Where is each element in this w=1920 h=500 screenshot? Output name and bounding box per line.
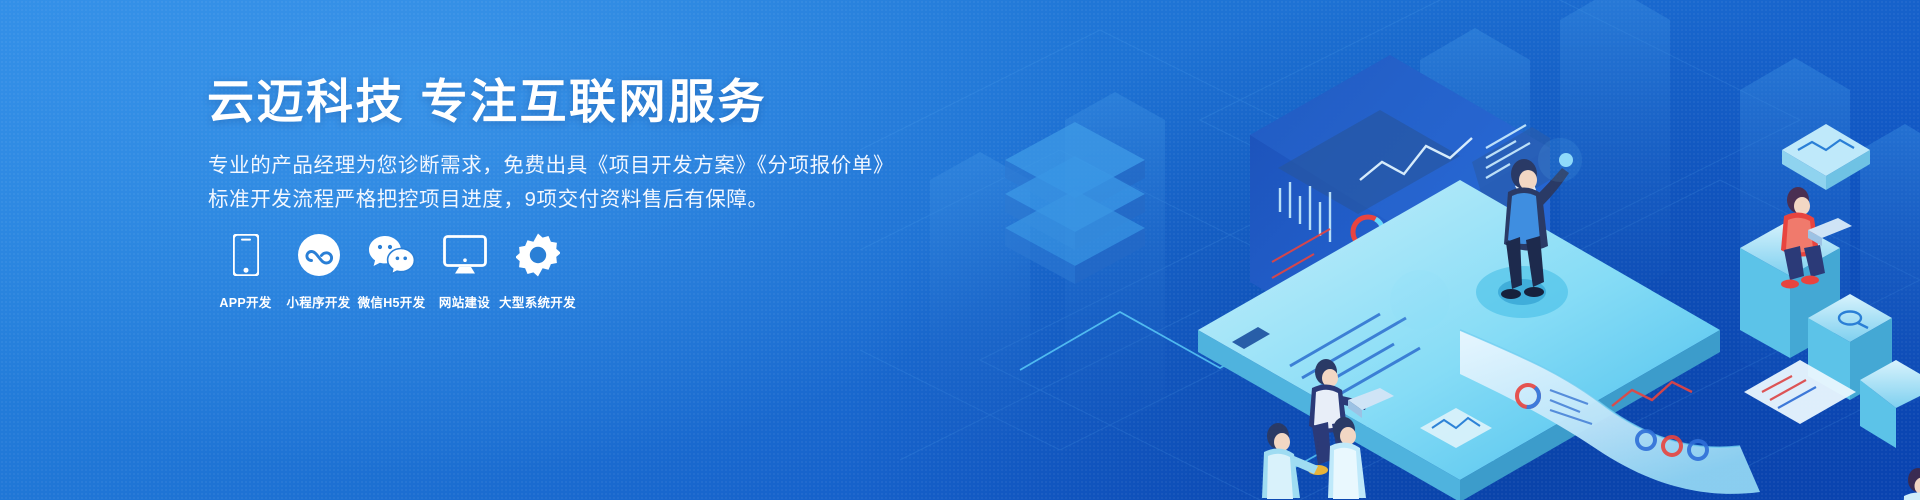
monitor-icon — [443, 232, 487, 278]
isometric-technology-illustration — [860, 0, 1920, 500]
wechat-bubbles-icon — [368, 232, 416, 278]
service-item-app[interactable]: APP开发 — [209, 232, 282, 311]
service-item-miniprogram[interactable]: 小程序开发 — [282, 232, 355, 311]
service-label: 小程序开发 — [286, 292, 350, 311]
mini-program-icon — [297, 232, 341, 278]
service-label: 大型系统开发 — [499, 292, 576, 311]
mobile-phone-icon — [233, 232, 259, 278]
subtitle-line-2: 标准开发流程严格把控项目进度，9项交付资料售后有保障。 — [208, 182, 769, 212]
banner-content: 云迈科技 专注互联网服务 专业的产品经理为您诊断需求，免费出具《项目开发方案》《… — [207, 0, 967, 500]
gear-icon — [516, 232, 560, 278]
service-item-wechat-h5[interactable]: 微信H5开发 — [355, 232, 428, 311]
service-label: APP开发 — [219, 292, 271, 311]
service-icon-list: APP开发 小程序开发 — [209, 232, 574, 311]
service-item-website[interactable]: 网站建设 — [428, 232, 501, 311]
service-item-large-system[interactable]: 大型系统开发 — [501, 232, 574, 311]
service-label: 微信H5开发 — [358, 292, 426, 311]
promo-banner: 云迈科技 专注互联网服务 专业的产品经理为您诊断需求，免费出具《项目开发方案》《… — [0, 0, 1920, 500]
service-label: 网站建设 — [439, 292, 490, 311]
subtitle-line-1: 专业的产品经理为您诊断需求，免费出具《项目开发方案》《分项报价单》 — [208, 148, 894, 178]
page-title: 云迈科技 专注互联网服务 — [207, 74, 767, 129]
